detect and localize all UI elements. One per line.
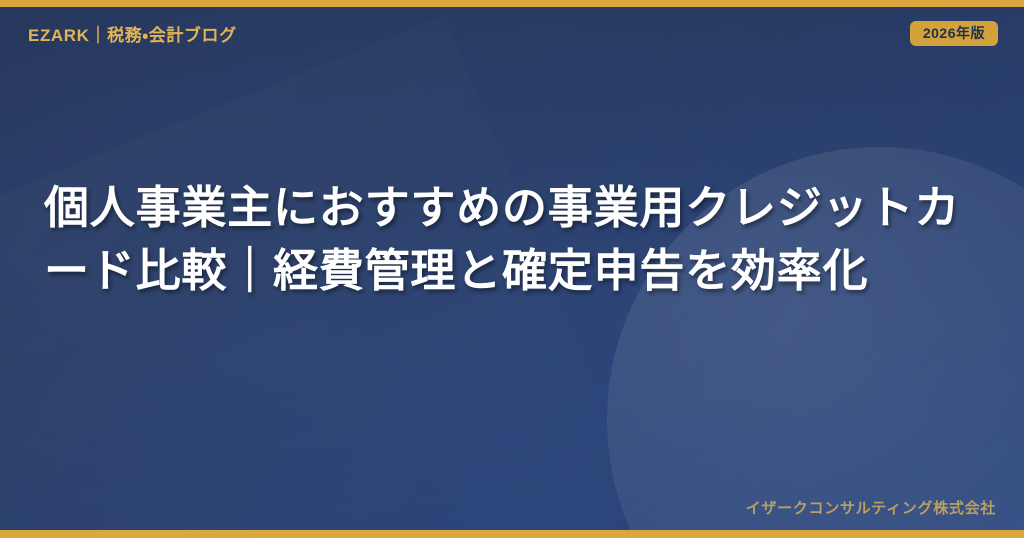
year-badge: 2026年版 [910,21,998,46]
company-credit: イザークコンサルティング株式会社 [746,497,996,518]
brand-label: EZARK｜税務・会計ブログ [28,21,237,46]
page-title: 個人事業主におすすめの事業用クレジットカード比較｜経費管理と確定申告を効率化 [44,176,980,302]
gold-rule-top [0,0,1024,7]
blog-eyecatch-card: EZARK｜税務・会計ブログ 2026年版 個人事業主におすすめの事業用クレジッ… [0,0,1024,538]
header-bar: EZARK｜税務・会計ブログ 2026年版 [0,7,1024,59]
title-block: 個人事業主におすすめの事業用クレジットカード比較｜経費管理と確定申告を効率化 [0,176,1024,302]
gold-rule-bottom [0,530,1024,538]
